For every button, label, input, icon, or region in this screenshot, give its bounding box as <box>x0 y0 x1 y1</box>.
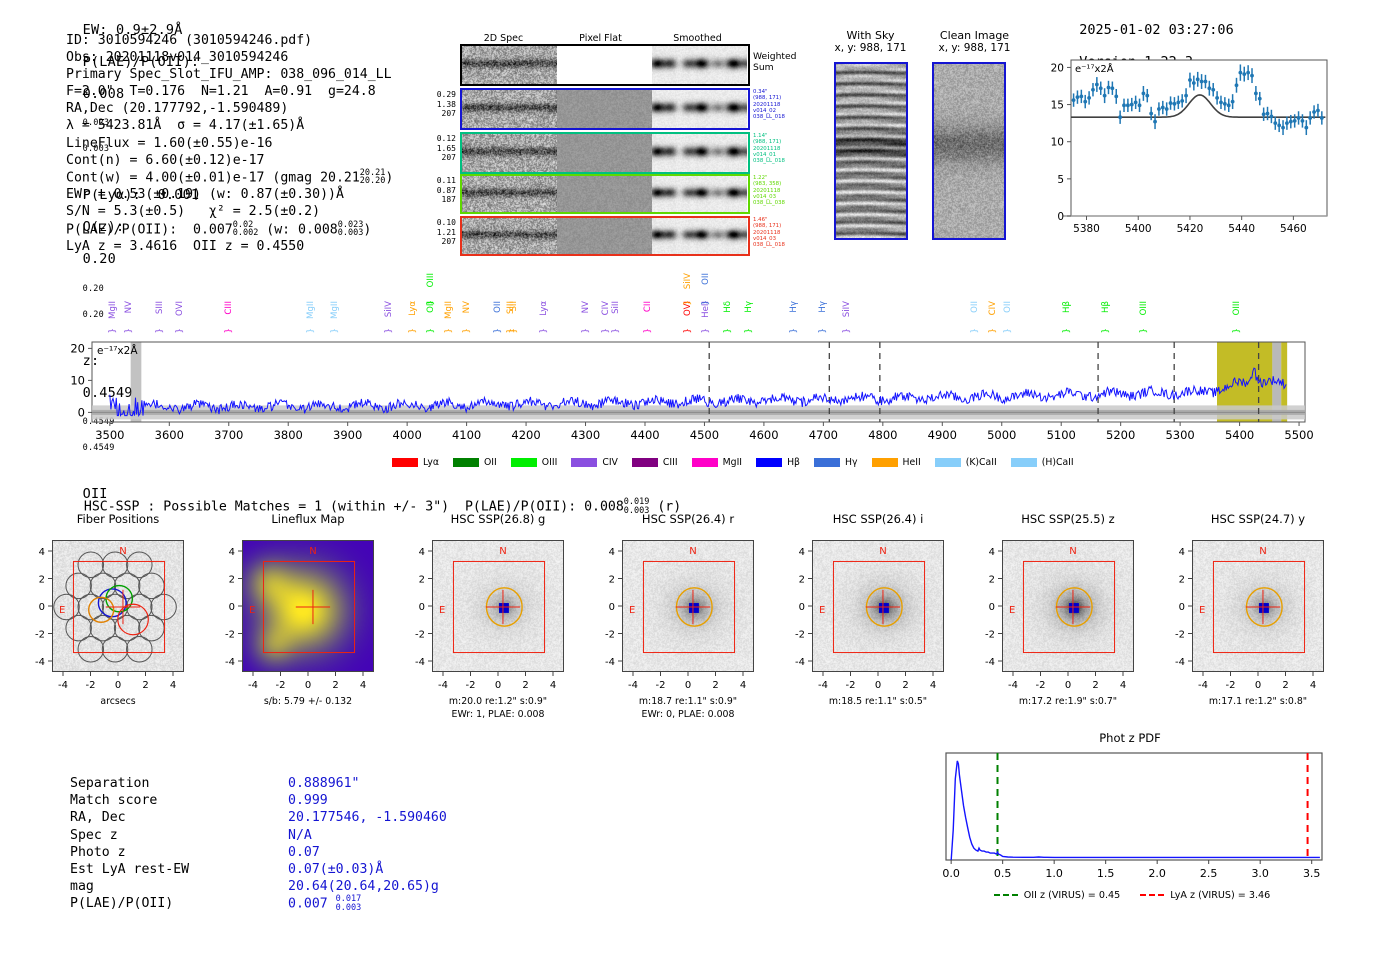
svg-text:E: E <box>819 605 825 616</box>
emission-line-bracket: } <box>970 328 980 333</box>
cutout-caption-5: m:17.2 re:1.9" s:0.7" <box>972 696 1164 709</box>
svg-text:-4: -4 <box>248 680 258 691</box>
legend-swatch <box>571 458 597 467</box>
with-sky-title: With Sky x, y: 988, 171 <box>823 29 918 54</box>
legend-label: MgII <box>723 457 742 468</box>
photz-legend-label: LyA z (VIRUS) = 3.46 <box>1170 890 1270 901</box>
legend-item: (K)CaII <box>935 457 997 468</box>
svg-text:0: 0 <box>39 602 45 613</box>
svg-text:3500: 3500 <box>95 428 124 442</box>
svg-text:4500: 4500 <box>690 428 719 442</box>
table-key: Match score <box>70 792 157 809</box>
svg-text:e⁻¹⁷x2Å: e⁻¹⁷x2Å <box>1075 62 1114 75</box>
emission-line-label: Hγ <box>818 301 828 313</box>
photz-legend: OII z (VIRUS) = 0.45LyA z (VIRUS) = 3.46 <box>932 888 1332 901</box>
info-plae: P(LAE)/P(OII): 0.0070.020.002 (w: 0.0080… <box>66 221 393 239</box>
cutout-title-5: HSC SSP(25.5) z <box>980 512 1156 526</box>
svg-text:-4: -4 <box>438 680 448 691</box>
emission-line-bracket: } <box>384 328 394 333</box>
photz-pdf-chart[interactable]: 0.00.51.01.52.02.53.03.5OII z (VIRUS) = … <box>932 745 1332 900</box>
svg-text:4: 4 <box>550 680 556 691</box>
svg-text:-2: -2 <box>35 630 45 641</box>
cutout-caption-line1: m:20.0 re:1.2" s:0.9" <box>402 696 594 709</box>
emission-line-label: SiIV <box>842 301 852 317</box>
svg-text:3.0: 3.0 <box>1251 867 1269 880</box>
svg-text:-2: -2 <box>1175 630 1185 641</box>
emission-line-bracket: } <box>988 328 998 333</box>
spec2d-row-left-labels: 0.121.65207 <box>418 134 456 163</box>
info-ewr: EWr = 0.53(±0.19) (w: 0.87(±0.30))Å <box>66 186 393 203</box>
emission-line-label: CIV <box>988 301 998 315</box>
emission-line-bracket: } <box>330 328 340 333</box>
cutout-image-6[interactable]: NE <box>1192 540 1324 672</box>
legend-label: Hγ <box>845 457 858 468</box>
svg-text:-4: -4 <box>795 657 805 668</box>
legend-item: OII <box>453 457 497 468</box>
emission-line-label: Hγ <box>744 301 754 313</box>
svg-text:2: 2 <box>419 575 425 586</box>
emission-line-bracket: } <box>643 328 653 333</box>
svg-text:0: 0 <box>1179 602 1185 613</box>
spec2d-col-title-2: Smoothed <box>649 33 746 44</box>
spectrum-legend: LyαOIIOIIICIVCIIIMgIIHβHγHeII(K)CaII(H)C… <box>392 452 1088 471</box>
cutout-image-4[interactable]: NE <box>812 540 944 672</box>
info-params: F=2.0" T=0.176 N=1.21 A=0.91 g=24.8 <box>66 83 393 100</box>
emission-line-bracket: } <box>701 328 711 333</box>
svg-text:3800: 3800 <box>274 428 303 442</box>
svg-text:0: 0 <box>1255 680 1261 691</box>
cutout-caption-3: m:18.7 re:1.1" s:0.9"EWr: 0, PLAE: 0.008 <box>592 696 784 721</box>
svg-text:3600: 3600 <box>155 428 184 442</box>
emission-line-label: OII <box>1003 301 1013 313</box>
emission-line-label: MgII <box>108 301 118 319</box>
info-cont-w: Cont(w) = 4.00(±0.01)e-17 (gmag 20.2120.… <box>66 169 393 187</box>
legend-label: (H)CaII <box>1042 457 1074 468</box>
emission-line-bracket: } <box>444 328 454 333</box>
photz-legend-swatch <box>1140 894 1164 896</box>
svg-text:4000: 4000 <box>393 428 422 442</box>
legend-label: CIII <box>663 457 678 468</box>
emission-line-label: Lyα <box>408 301 418 316</box>
svg-text:4400: 4400 <box>630 428 659 442</box>
svg-text:5: 5 <box>1057 174 1064 186</box>
hsc-headline: HSC-SSP : Possible Matches = 1 (within +… <box>68 483 681 515</box>
source-info-block: ID: 3010594246 (3010594246.pdf) Obs: 202… <box>66 32 393 255</box>
legend-item: Hβ <box>756 457 800 468</box>
legend-swatch <box>632 458 658 467</box>
svg-text:2: 2 <box>609 575 615 586</box>
emission-line-bracket: } <box>1003 328 1013 333</box>
table-value-range: 0.0170.003 <box>336 895 362 912</box>
cutout-caption-line2: EWr: 0, PLAE: 0.008 <box>592 709 784 722</box>
emission-line-bracket: } <box>789 328 799 333</box>
svg-text:2.5: 2.5 <box>1200 867 1218 880</box>
svg-text:2: 2 <box>229 575 235 586</box>
svg-text:0: 0 <box>799 602 805 613</box>
svg-text:4600: 4600 <box>749 428 778 442</box>
svg-text:2: 2 <box>989 575 995 586</box>
svg-text:20: 20 <box>1051 62 1064 74</box>
emission-line-label: Lyα <box>539 301 549 316</box>
emission-line-bracket: } <box>509 328 519 333</box>
svg-text:4: 4 <box>360 680 366 691</box>
spec2d-row-right-labels: 0.34"(988, 171)20201118v014_02038_LL_018 <box>753 89 785 120</box>
svg-text:-4: -4 <box>628 680 638 691</box>
cutout-title-4: HSC SSP(26.4) i <box>790 512 966 526</box>
info-cont-n: Cont(n) = 6.60(±0.12)e-17 <box>66 152 393 169</box>
table-value: 0.07(±0.03)Å <box>288 861 383 878</box>
svg-text:4700: 4700 <box>809 428 838 442</box>
emission-line-bracket: } <box>306 328 316 333</box>
svg-text:e⁻¹⁷x2Å: e⁻¹⁷x2Å <box>97 344 138 357</box>
cutout-caption-line2: EWr: 1, PLAE: 0.008 <box>402 709 594 722</box>
cutout-title-2: HSC SSP(26.8) g <box>410 512 586 526</box>
legend-item: HeII <box>872 457 921 468</box>
svg-text:4: 4 <box>1179 547 1185 558</box>
svg-text:N: N <box>879 546 886 557</box>
emission-line-label: OIII <box>1139 301 1149 315</box>
emission-line-bracket: } <box>1139 328 1149 333</box>
svg-text:4: 4 <box>1120 680 1126 691</box>
svg-text:2: 2 <box>142 680 148 691</box>
svg-text:2: 2 <box>902 680 908 691</box>
svg-text:5300: 5300 <box>1165 428 1194 442</box>
emission-line-label: Hγ <box>789 301 799 313</box>
emission-line-label: CIII <box>224 301 234 315</box>
emission-line-label: SiIV <box>683 273 693 289</box>
emission-line-label: CIV <box>601 301 611 315</box>
svg-text:4800: 4800 <box>868 428 897 442</box>
table-key: Separation <box>70 775 149 792</box>
table-value: 0.007 0.0170.003 <box>288 895 361 913</box>
spec2d-row[interactable] <box>460 174 750 214</box>
svg-text:N: N <box>499 546 506 557</box>
svg-text:4100: 4100 <box>452 428 481 442</box>
info-sn: S/N = 5.3(±0.5) χ² = 2.5(±0.2) <box>66 203 393 220</box>
svg-text:15: 15 <box>1051 100 1064 112</box>
svg-text:0: 0 <box>989 602 995 613</box>
svg-text:2: 2 <box>1179 575 1185 586</box>
svg-text:5400: 5400 <box>1125 223 1152 235</box>
svg-text:0.0: 0.0 <box>942 867 960 880</box>
svg-text:2: 2 <box>712 680 718 691</box>
info-redshifts: LyA z = 3.4616 OII z = 0.4550 <box>66 238 393 255</box>
legend-item: CIV <box>571 457 618 468</box>
table-value: 20.177546, -1.590460 <box>288 809 447 826</box>
svg-text:-4: -4 <box>1175 657 1185 668</box>
svg-text:10: 10 <box>70 373 85 387</box>
cutout-caption-line1: s/b: 5.79 +/- 0.132 <box>212 696 404 709</box>
legend-item: OIII <box>511 457 558 468</box>
svg-text:5400: 5400 <box>1225 428 1254 442</box>
emission-line-label: NV <box>462 301 472 313</box>
svg-text:0: 0 <box>875 680 881 691</box>
photz-legend-swatch <box>994 894 1018 896</box>
info-obs: Obs: 20201118v014_3010594246 <box>66 49 393 66</box>
emission-line-bracket: } <box>683 328 693 333</box>
spec2d-row-right-labels: 1.46"(988, 171)20201118v014_03038_LL_018 <box>753 217 785 248</box>
svg-text:-4: -4 <box>818 680 828 691</box>
svg-text:4: 4 <box>1310 680 1316 691</box>
emission-line-bracket: } <box>124 328 134 333</box>
svg-text:-4: -4 <box>605 657 615 668</box>
emission-line-bracket: } <box>1101 328 1111 333</box>
emission-line-bracket: } <box>426 300 436 305</box>
legend-swatch <box>692 458 718 467</box>
svg-text:E: E <box>59 605 65 616</box>
spec2d-row[interactable] <box>460 88 750 130</box>
svg-text:-2: -2 <box>1226 680 1236 691</box>
cutout-caption-1: s/b: 5.79 +/- 0.132 <box>212 696 404 709</box>
svg-text:5380: 5380 <box>1073 223 1100 235</box>
emission-line-label: SII <box>509 301 519 312</box>
svg-text:E: E <box>249 605 255 616</box>
info-primary: Primary Spec_Slot_IFU_AMP: 038_096_014_L… <box>66 66 393 83</box>
full-spectrum-chart[interactable]: 3500360037003800390040004100420043004400… <box>0 270 1400 470</box>
legend-swatch <box>392 458 418 467</box>
with-sky-image[interactable] <box>834 62 908 240</box>
emission-line-bracket: } <box>611 328 621 333</box>
photz-legend-item: OII z (VIRUS) = 0.45 <box>994 890 1121 901</box>
emission-line-bracket: } <box>1232 328 1242 333</box>
svg-text:4: 4 <box>229 547 235 558</box>
svg-text:E: E <box>1009 605 1015 616</box>
emission-line-label: Hδ <box>723 301 733 313</box>
legend-item: MgII <box>692 457 742 468</box>
emission-line-bracket: } <box>723 328 733 333</box>
svg-text:4300: 4300 <box>571 428 600 442</box>
emission-line-label: MgII <box>306 301 316 319</box>
emission-line-bracket: } <box>462 328 472 333</box>
svg-text:4: 4 <box>930 680 936 691</box>
cutout-caption-line1: m:18.5 re:1.1" s:0.5" <box>782 696 974 709</box>
emission-line-label: Hβ <box>1101 301 1111 313</box>
svg-text:2: 2 <box>332 680 338 691</box>
legend-label: HeII <box>903 457 921 468</box>
table-value: N/A <box>288 827 312 844</box>
table-key: Photo z <box>70 844 126 861</box>
svg-text:0: 0 <box>495 680 501 691</box>
svg-text:3.5: 3.5 <box>1303 867 1321 880</box>
cutout-title-1: Lineflux Map <box>220 512 396 526</box>
clean-image-title: Clean Image x, y: 988, 171 <box>922 29 1027 54</box>
legend-label: (K)CaII <box>966 457 997 468</box>
table-value: 0.888961" <box>288 775 359 792</box>
emission-line-bracket: } <box>1062 328 1072 333</box>
legend-label: Hβ <box>787 457 800 468</box>
svg-text:5420: 5420 <box>1177 223 1204 235</box>
cutout-caption-2: m:20.0 re:1.2" s:0.9"EWr: 1, PLAE: 0.008 <box>402 696 594 721</box>
emission-line-label: NV <box>124 301 134 313</box>
svg-text:5440: 5440 <box>1228 223 1255 235</box>
svg-text:0: 0 <box>1065 680 1071 691</box>
spec2d-col-title-1: Pixel Flat <box>552 33 649 44</box>
emission-line-label: OII <box>970 301 980 313</box>
table-value: 0.999 <box>288 792 328 809</box>
emission-line-label: SIII <box>155 301 165 314</box>
svg-text:0: 0 <box>419 602 425 613</box>
info-radec: RA,Dec (20.177792,-1.590489) <box>66 100 393 117</box>
svg-text:N: N <box>689 546 696 557</box>
emission-line-bracket: } <box>581 328 591 333</box>
svg-text:4: 4 <box>419 547 425 558</box>
legend-swatch <box>814 458 840 467</box>
cutout-title-3: HSC SSP(26.4) r <box>600 512 776 526</box>
svg-text:3700: 3700 <box>214 428 243 442</box>
svg-text:-4: -4 <box>415 657 425 668</box>
line-fit-chart[interactable]: 5380540054205440546005101520e⁻¹⁷x2Å <box>1035 48 1335 248</box>
svg-text:N: N <box>1259 546 1266 557</box>
svg-text:-4: -4 <box>1198 680 1208 691</box>
table-key: Est LyA rest-EW <box>70 861 189 878</box>
svg-text:E: E <box>439 605 445 616</box>
svg-text:5000: 5000 <box>987 428 1016 442</box>
emission-line-bracket: } <box>744 328 754 333</box>
svg-text:E: E <box>1199 605 1205 616</box>
svg-text:-4: -4 <box>1008 680 1018 691</box>
svg-text:-2: -2 <box>605 630 615 641</box>
svg-text:2: 2 <box>39 575 45 586</box>
spec2d-row[interactable] <box>460 132 750 174</box>
svg-text:4900: 4900 <box>928 428 957 442</box>
legend-swatch <box>1011 458 1037 467</box>
emission-line-label: OIII <box>1232 301 1242 315</box>
emission-line-bracket: } <box>701 300 711 305</box>
emission-line-label: OII <box>701 273 711 285</box>
emission-line-label: Hβ <box>1062 301 1072 313</box>
svg-text:1.5: 1.5 <box>1097 867 1115 880</box>
svg-text:0: 0 <box>229 602 235 613</box>
emission-line-bracket: } <box>224 328 234 333</box>
cutout-caption-4: m:18.5 re:1.1" s:0.5" <box>782 696 974 709</box>
cutout-image-0[interactable]: NE <box>52 540 184 672</box>
cutout-caption-line1: m:17.2 re:1.9" s:0.7" <box>972 696 1164 709</box>
cutout-image-2[interactable]: NE <box>432 540 564 672</box>
info-lambda: λ = 5423.81Å σ = 4.17(±1.65)Å <box>66 117 393 134</box>
svg-text:-2: -2 <box>985 630 995 641</box>
spec2d-weighted-sum-label: Weighted Sum <box>753 51 797 73</box>
photz-legend-item: LyA z (VIRUS) = 3.46 <box>1140 890 1270 901</box>
spec2d-row-left-labels: 0.291.38207 <box>418 90 456 119</box>
emission-line-label: MgII <box>444 301 454 319</box>
cutout-image-5[interactable]: NE <box>1002 540 1134 672</box>
svg-text:0: 0 <box>115 680 121 691</box>
svg-text:4: 4 <box>39 547 45 558</box>
svg-text:4: 4 <box>799 547 805 558</box>
svg-text:1.0: 1.0 <box>1045 867 1063 880</box>
emission-line-bracket: } <box>601 328 611 333</box>
svg-text:4200: 4200 <box>511 428 540 442</box>
legend-label: OIII <box>542 457 558 468</box>
spec2d-col-title-0: 2D Spec <box>455 33 552 44</box>
svg-text:5200: 5200 <box>1106 428 1135 442</box>
legend-swatch <box>453 458 479 467</box>
emission-line-label: SiII <box>611 301 621 314</box>
emission-line-label: OII <box>493 301 503 313</box>
svg-text:-4: -4 <box>58 680 68 691</box>
cutout-image-3[interactable]: NE <box>622 540 754 672</box>
photz-title: Phot z PDF <box>920 731 1340 745</box>
svg-text:2: 2 <box>522 680 528 691</box>
emission-line-bracket: } <box>818 328 828 333</box>
emission-line-label: OIII <box>426 273 436 287</box>
spec2d-row-left-labels: 0.110.87187 <box>418 176 456 205</box>
info-id: ID: 3010594246 (3010594246.pdf) <box>66 32 393 49</box>
svg-text:2: 2 <box>1282 680 1288 691</box>
report-timestamp: 2025-01-02 03:27:06 <box>1079 22 1233 38</box>
svg-text:N: N <box>1069 546 1076 557</box>
emission-line-bracket: } <box>155 328 165 333</box>
svg-text:N: N <box>119 546 126 557</box>
legend-swatch <box>511 458 537 467</box>
cutout-row: Fiber PositionsNE-4-4-2-2002244arcsecsLi… <box>0 512 1400 737</box>
cutout-caption-line1: m:17.1 re:1.2" s:0.8" <box>1162 696 1354 709</box>
emission-line-label: OVI <box>175 301 185 316</box>
svg-text:0: 0 <box>609 602 615 613</box>
legend-label: CIV <box>602 457 618 468</box>
svg-text:-4: -4 <box>985 657 995 668</box>
cutout-title-0: Fiber Positions <box>30 512 206 526</box>
legend-item: Lyα <box>392 457 439 468</box>
svg-text:-2: -2 <box>466 680 476 691</box>
svg-text:-2: -2 <box>415 630 425 641</box>
cutout-caption-0: arcsecs <box>22 696 214 709</box>
emission-line-label: SiIV <box>384 301 394 317</box>
info-lineflux: LineFlux = 1.60(±0.55)e-16 <box>66 135 393 152</box>
legend-item: CIII <box>632 457 678 468</box>
clean-image[interactable] <box>932 62 1006 240</box>
table-key: P(LAE)/P(OII) <box>70 895 173 912</box>
spec2d-row-left-labels: 0.101.21207 <box>418 218 456 247</box>
svg-text:3900: 3900 <box>333 428 362 442</box>
legend-label: Lyα <box>423 457 439 468</box>
svg-text:-4: -4 <box>35 657 45 668</box>
svg-text:4: 4 <box>170 680 176 691</box>
svg-text:5500: 5500 <box>1284 428 1313 442</box>
table-value: 0.07 <box>288 844 320 861</box>
svg-text:2: 2 <box>799 575 805 586</box>
svg-text:10: 10 <box>1051 137 1064 149</box>
svg-text:5100: 5100 <box>1047 428 1076 442</box>
svg-text:N: N <box>309 546 316 557</box>
table-key: Spec z <box>70 827 118 844</box>
legend-swatch <box>935 458 961 467</box>
table-key: RA, Dec <box>70 809 126 826</box>
cutout-image-1[interactable]: NE <box>242 540 374 672</box>
emission-line-bracket: } <box>842 328 852 333</box>
emission-line-label: CII <box>643 301 653 312</box>
svg-text:2.0: 2.0 <box>1148 867 1166 880</box>
svg-text:0: 0 <box>1057 211 1064 223</box>
svg-text:-2: -2 <box>86 680 96 691</box>
svg-text:0: 0 <box>685 680 691 691</box>
svg-text:-2: -2 <box>656 680 666 691</box>
spec2d-row[interactable] <box>460 216 750 256</box>
svg-text:4: 4 <box>989 547 995 558</box>
legend-label: OII <box>484 457 497 468</box>
svg-text:-4: -4 <box>225 657 235 668</box>
svg-text:5460: 5460 <box>1280 223 1307 235</box>
svg-text:0: 0 <box>78 405 85 419</box>
spec2d-row[interactable] <box>460 44 750 86</box>
svg-text:0.5: 0.5 <box>994 867 1012 880</box>
legend-swatch <box>756 458 782 467</box>
svg-text:4: 4 <box>740 680 746 691</box>
cutout-caption-line1: m:18.7 re:1.1" s:0.9" <box>592 696 784 709</box>
svg-text:-2: -2 <box>225 630 235 641</box>
spec2d-row-right-labels: 1.22"(983, 358)20201118v014_03038_LL_038 <box>753 175 785 206</box>
emission-line-label: MgII <box>330 301 340 319</box>
